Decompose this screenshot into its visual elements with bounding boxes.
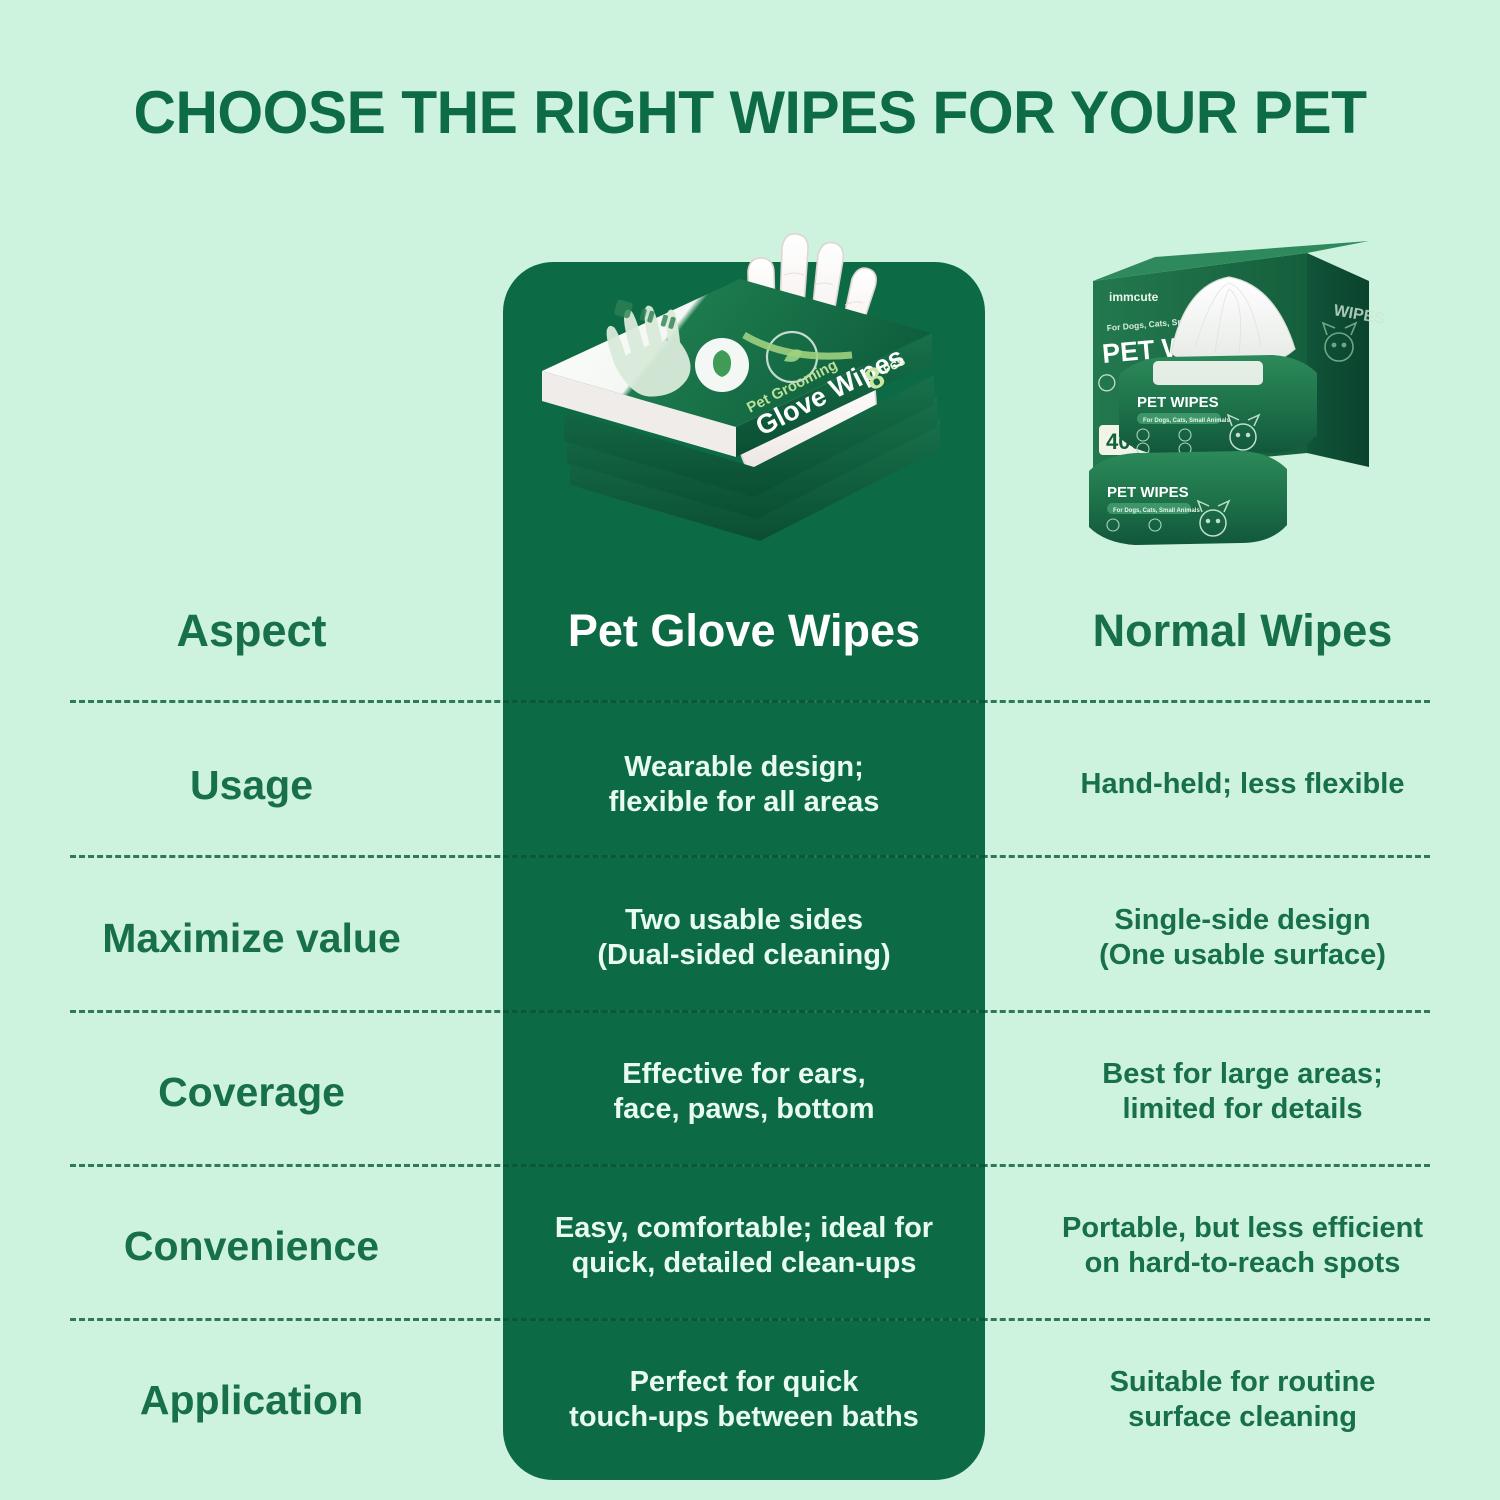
row-normal-value: Single-side design (One usable surface) bbox=[985, 903, 1500, 974]
row-aspect-label: Maximize value bbox=[0, 913, 503, 963]
table-row: Application Perfect for quick touch-ups … bbox=[0, 1350, 1500, 1450]
row-divider-on-panel bbox=[503, 1164, 985, 1167]
row-aspect-label: Coverage bbox=[0, 1067, 503, 1117]
table-row: Maximize value Two usable sides (Dual-si… bbox=[0, 888, 1500, 988]
row-glove-value: Perfect for quick touch-ups between bath… bbox=[503, 1365, 985, 1436]
row-divider-on-panel bbox=[503, 1010, 985, 1013]
header-normal-wipes: Normal Wipes bbox=[985, 604, 1500, 659]
row-divider-on-panel bbox=[503, 1318, 985, 1321]
row-glove-value: Wearable design; flexible for all areas bbox=[503, 750, 985, 821]
table-row: Coverage Effective for ears, face, paws,… bbox=[0, 1042, 1500, 1142]
row-glove-value: Easy, comfortable; ideal for quick, deta… bbox=[503, 1211, 985, 1282]
row-glove-value: Effective for ears, face, paws, bottom bbox=[503, 1057, 985, 1128]
row-glove-value: Two usable sides (Dual-sided cleaning) bbox=[503, 903, 985, 974]
table-row: Convenience Easy, comfortable; ideal for… bbox=[0, 1196, 1500, 1296]
table-header-row: Aspect Pet Glove Wipes Normal Wipes bbox=[0, 592, 1500, 670]
row-divider-on-panel bbox=[503, 700, 985, 703]
header-pet-glove-wipes: Pet Glove Wipes bbox=[503, 604, 985, 659]
row-normal-value: Suitable for routine surface cleaning bbox=[985, 1365, 1500, 1436]
row-aspect-label: Convenience bbox=[0, 1221, 503, 1271]
row-normal-value: Portable, but less efficient on hard-to-… bbox=[985, 1211, 1500, 1282]
row-aspect-label: Usage bbox=[0, 760, 503, 810]
row-divider-on-panel bbox=[503, 855, 985, 858]
header-aspect: Aspect bbox=[0, 604, 503, 659]
row-normal-value: Best for large areas; limited for detail… bbox=[985, 1057, 1500, 1128]
row-normal-value: Hand-held; less flexible bbox=[985, 767, 1500, 802]
row-aspect-label: Application bbox=[0, 1375, 503, 1425]
table-row: Usage Wearable design; flexible for all … bbox=[0, 735, 1500, 835]
comparison-table: Aspect Pet Glove Wipes Normal Wipes Usag… bbox=[0, 0, 1500, 1500]
